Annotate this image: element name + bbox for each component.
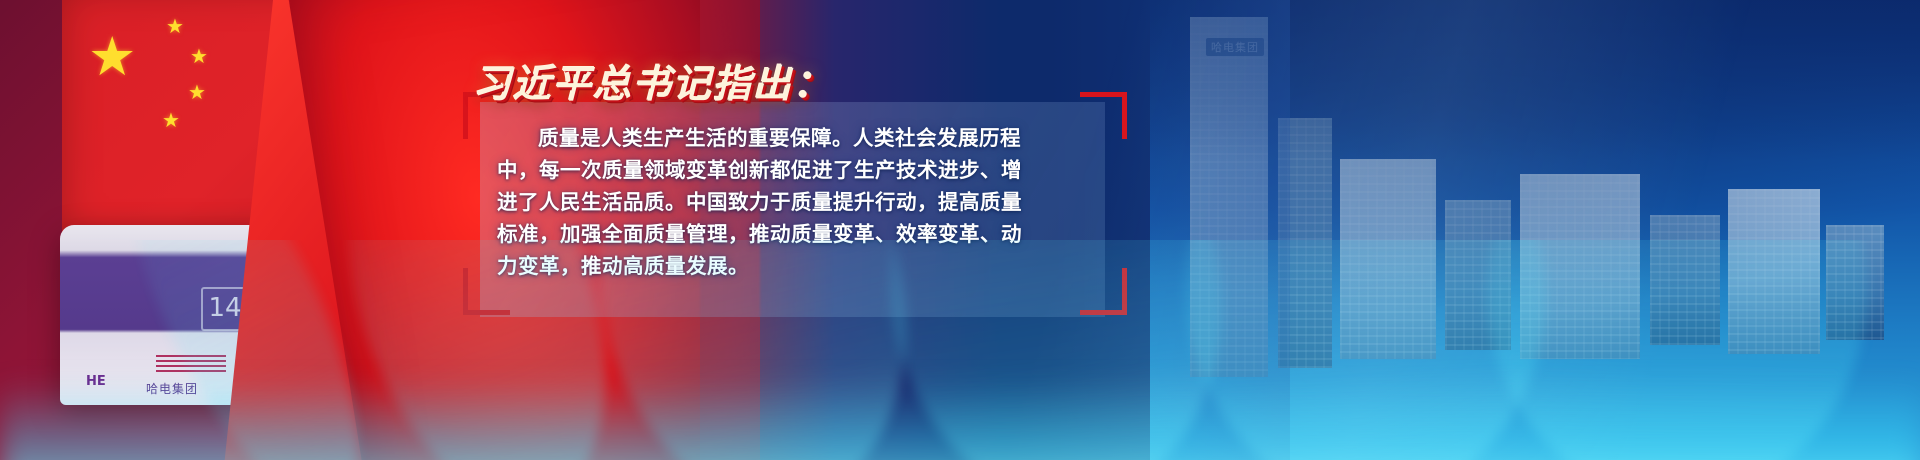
quote-line: 进了人民生活品质。中国致力于质量提升行动，提高质量 bbox=[497, 186, 1097, 218]
quote-block: 习近平总书记指出： 质量是人类生产生活的重要保障。人类社会发展历程 中，每一次质… bbox=[455, 0, 1155, 460]
banner-root: 哈电集团 ★ ★ ★ ★ ★ 14 HE 哈电集团 中国三峡 bbox=[0, 0, 1920, 460]
banner-title: 习近平总书记指出： bbox=[473, 53, 833, 108]
flag-star-large: ★ bbox=[88, 30, 136, 84]
unit-brand: 哈电集团 bbox=[146, 380, 198, 397]
city-haze bbox=[1150, 0, 1920, 460]
unit-logo: HE bbox=[86, 374, 106, 389]
flag-star-small: ★ bbox=[190, 46, 208, 66]
city-photo: 哈电集团 bbox=[1150, 0, 1920, 460]
flag-star-small: ★ bbox=[188, 82, 206, 102]
unit-stripe bbox=[156, 355, 226, 373]
quote-text: 质量是人类生产生活的重要保障。人类社会发展历程 中，每一次质量领域变革创新都促进… bbox=[497, 122, 1097, 282]
quote-line: 力变革，推动高质量发展。 bbox=[497, 250, 1097, 282]
quote-line: 中，每一次质量领域变革创新都促进了生产技术进步、增 bbox=[497, 154, 1097, 186]
flag-star-small: ★ bbox=[166, 16, 184, 36]
quote-line: 标准，加强全面质量管理，推动质量变革、效率变革、动 bbox=[497, 218, 1097, 250]
flag-star-small: ★ bbox=[162, 110, 180, 130]
quote-line: 质量是人类生产生活的重要保障。人类社会发展历程 bbox=[497, 122, 1097, 154]
